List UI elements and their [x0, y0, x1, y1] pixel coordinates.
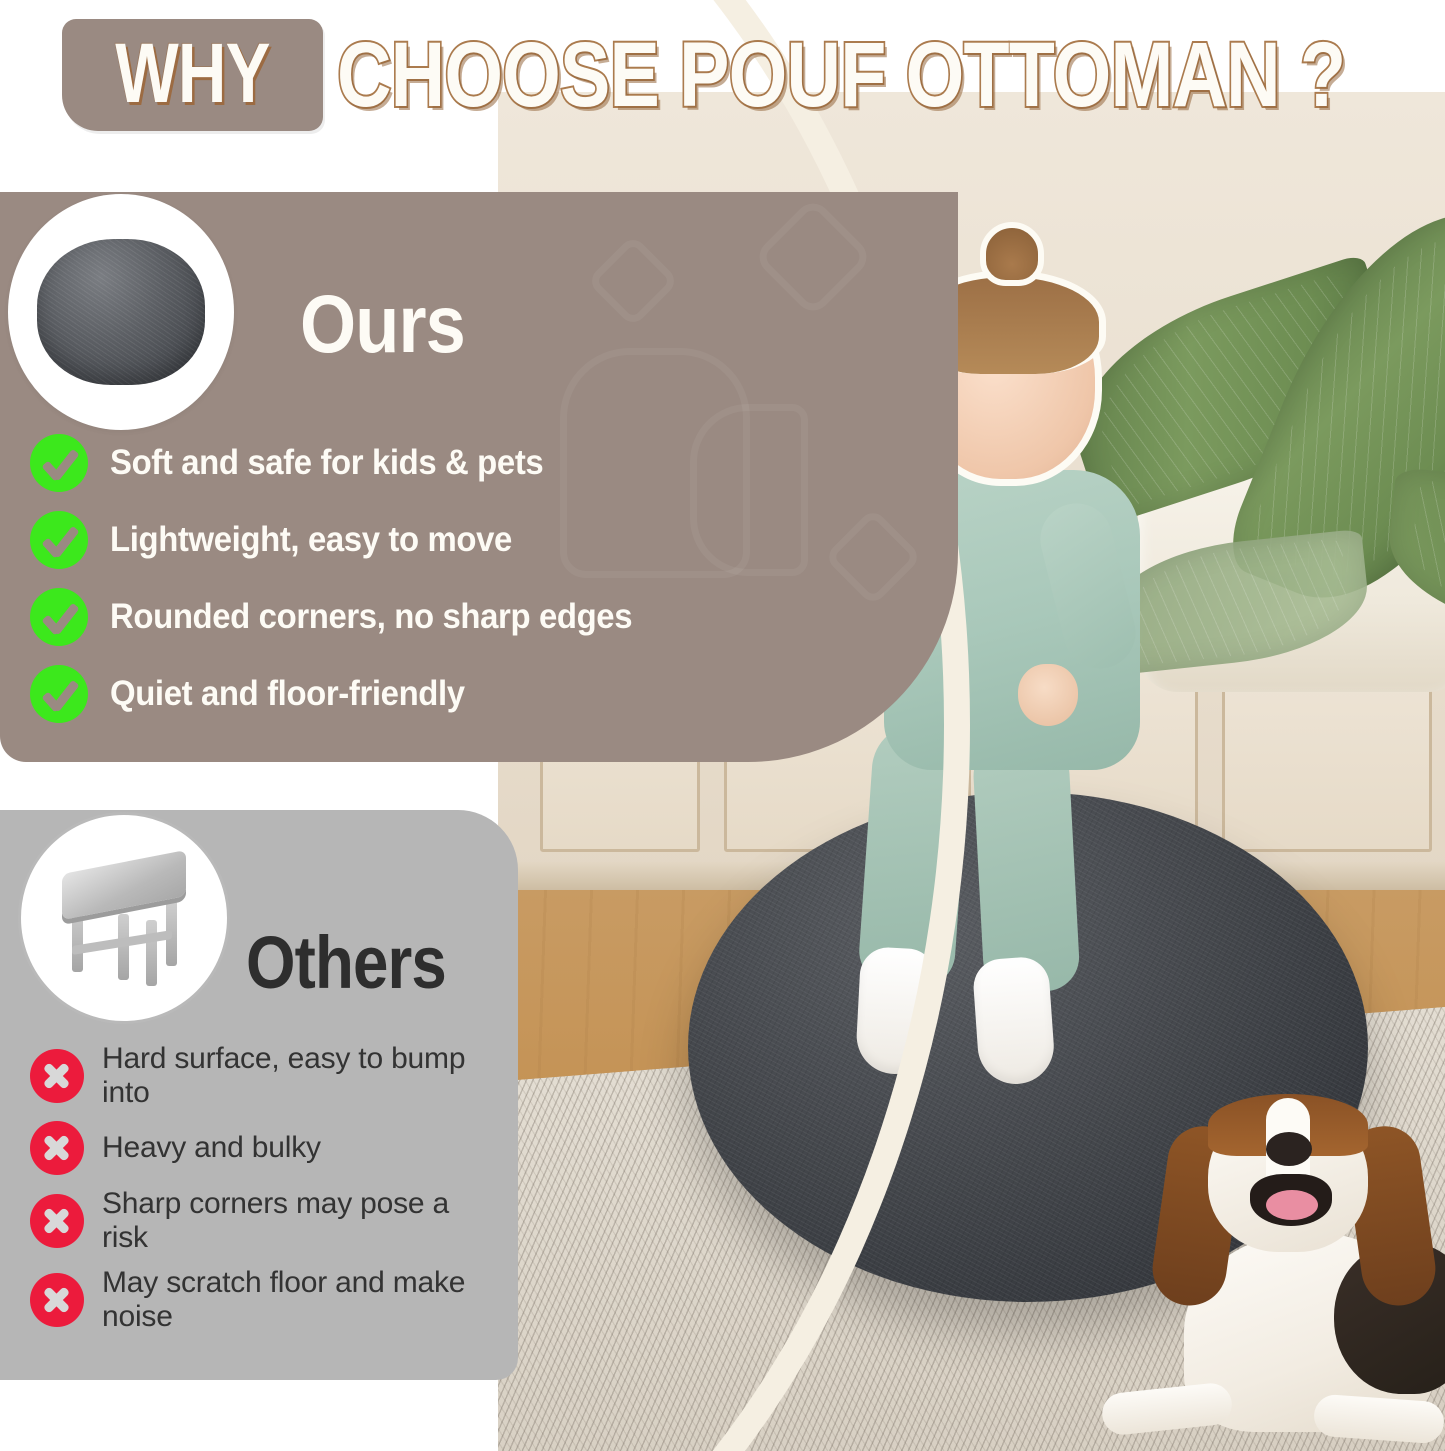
- others-drawbacks-list: Hard surface, easy to bump into Heavy an…: [30, 1042, 480, 1346]
- check-circle-icon: [30, 665, 88, 723]
- page-title: CHOOSE POUF OTTOMAN ?: [337, 34, 1345, 117]
- ours-title: Ours: [300, 278, 465, 372]
- others-item-label: Sharp corners may pose a risk: [102, 1187, 480, 1254]
- list-item: Hard surface, easy to bump into: [30, 1042, 480, 1109]
- list-item: Sharp corners may pose a risk: [30, 1187, 480, 1254]
- list-item: Lightweight, easy to move: [30, 509, 665, 571]
- check-circle-icon: [30, 511, 88, 569]
- ours-product-thumbnail: [8, 194, 234, 430]
- infographic-root: WHY CHOOSE POUF OTTOMAN ? Ours Soft and …: [0, 0, 1445, 1451]
- ours-item-label: Rounded corners, no sharp edges: [110, 597, 632, 637]
- list-item: Soft and safe for kids & pets: [30, 432, 665, 494]
- ours-item-label: Quiet and floor-friendly: [110, 674, 465, 714]
- list-item: Rounded corners, no sharp edges: [30, 586, 665, 648]
- watermark-diamond-icon: [586, 234, 679, 327]
- child-topknot: [980, 222, 1044, 286]
- watermark-diamond-icon: [752, 196, 874, 318]
- watermark-thumbs-up-icon: [690, 404, 808, 576]
- child-sock: [855, 946, 937, 1076]
- x-circle-icon: [30, 1049, 84, 1103]
- plant-pot: [1138, 392, 1445, 692]
- pouf-thumbnail-icon: [37, 239, 205, 385]
- x-circle-icon: [30, 1194, 84, 1248]
- others-item-label: May scratch floor and make noise: [102, 1266, 480, 1333]
- ours-item-label: Lightweight, easy to move: [110, 520, 512, 560]
- beagle-dog: [1138, 1092, 1445, 1451]
- x-circle-icon: [30, 1273, 84, 1327]
- others-title: Others: [246, 920, 446, 1005]
- child-sock: [972, 956, 1057, 1087]
- ours-item-label: Soft and safe for kids & pets: [110, 443, 543, 483]
- list-item: Heavy and bulky: [30, 1121, 480, 1175]
- list-item: May scratch floor and make noise: [30, 1266, 480, 1333]
- why-badge-label: WHY: [115, 37, 269, 109]
- list-item: Quiet and floor-friendly: [30, 663, 665, 725]
- watermark-diamond-icon: [824, 508, 923, 607]
- header: WHY CHOOSE POUF OTTOMAN ?: [0, 0, 1445, 150]
- others-item-label: Hard surface, easy to bump into: [102, 1042, 480, 1109]
- dog-paw: [1313, 1394, 1445, 1445]
- why-badge: WHY: [62, 19, 323, 131]
- dog-tongue: [1266, 1190, 1318, 1220]
- x-circle-icon: [30, 1121, 84, 1175]
- dog-nose: [1266, 1132, 1312, 1166]
- others-product-thumbnail: [18, 812, 230, 1024]
- child-hand: [1018, 664, 1078, 726]
- stool-thumbnail-icon: [58, 856, 190, 980]
- ours-benefits-list: Soft and safe for kids & pets Lightweigh…: [30, 432, 665, 740]
- check-circle-icon: [30, 588, 88, 646]
- check-circle-icon: [30, 434, 88, 492]
- others-item-label: Heavy and bulky: [102, 1131, 321, 1165]
